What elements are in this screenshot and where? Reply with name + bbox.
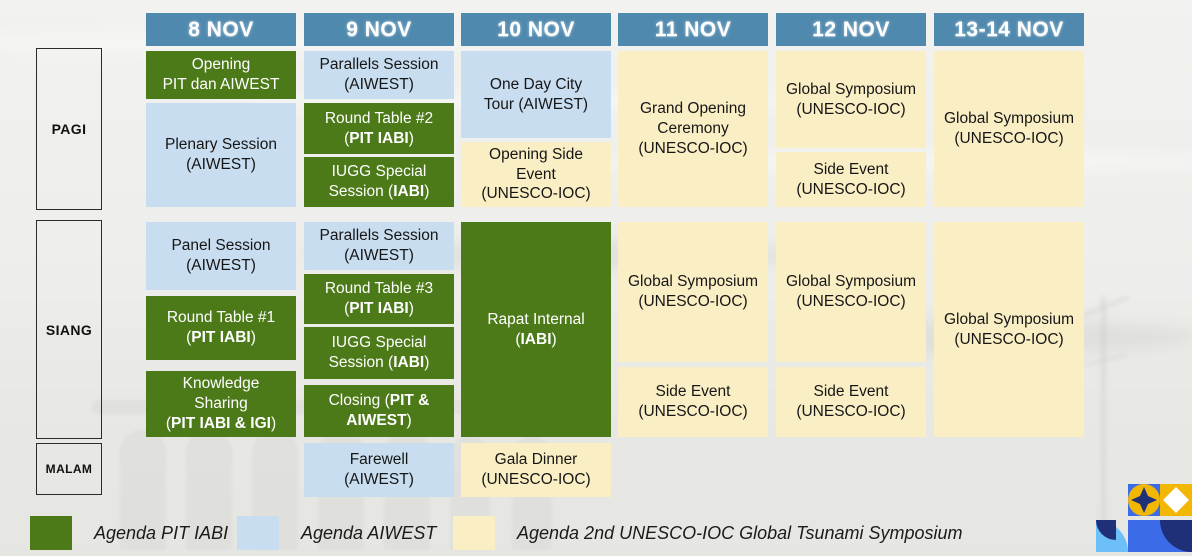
- legend-swatch-green: [30, 516, 72, 550]
- session-cell-text: Side Event (UNESCO-IOC): [624, 382, 762, 422]
- session-cell-text: Knowledge Sharing (PIT IABI & IGI): [152, 374, 290, 433]
- session-cell-global-symposium-12-afternoon[interactable]: Global Symposium (UNESCO-IOC): [776, 222, 926, 362]
- legend-swatch-cream: [453, 516, 495, 550]
- session-cell-rapat-internal[interactable]: Rapat Internal (IABI): [461, 222, 611, 437]
- session-cell-closing[interactable]: Closing (PIT & AIWEST): [304, 385, 454, 437]
- session-cell-text: Gala Dinner (UNESCO-IOC): [467, 450, 605, 490]
- session-cell-text: Opening Side Event (UNESCO-IOC): [467, 145, 605, 204]
- session-cell-text: Round Table #2 (PIT IABI): [310, 109, 448, 149]
- session-cell-side-event-11-afternoon[interactable]: Side Event (UNESCO-IOC): [618, 367, 768, 437]
- session-cell-opening-pit-aiwest[interactable]: Opening PIT dan AIWEST: [146, 51, 296, 99]
- legend-label: Agenda 2nd UNESCO-IOC Global Tsunami Sym…: [517, 523, 963, 544]
- session-cell-iugg-special-session-morning[interactable]: IUGG Special Session (IABI): [304, 157, 454, 207]
- column-header-10-nov: 10 NOV: [461, 13, 611, 46]
- session-cell-text: Grand Opening Ceremony (UNESCO-IOC): [624, 99, 762, 158]
- daypart-label-text: MALAM: [46, 462, 93, 476]
- session-cell-text: Panel Session (AIWEST): [152, 236, 290, 276]
- session-cell-side-event-12-morning[interactable]: Side Event (UNESCO-IOC): [776, 152, 926, 207]
- session-cell-text: Plenary Session (AIWEST): [152, 135, 290, 175]
- column-header-13-14-nov: 13-14 NOV: [934, 13, 1084, 46]
- session-cell-text: Side Event (UNESCO-IOC): [782, 160, 920, 200]
- column-header-8-nov: 8 NOV: [146, 13, 296, 46]
- column-header-label: 11 NOV: [655, 18, 732, 42]
- session-cell-text: Round Table #1 (PIT IABI): [152, 308, 290, 348]
- brand-logo-icon: [1080, 480, 1192, 556]
- daypart-label-text: PAGI: [52, 121, 87, 137]
- column-header-label: 10 NOV: [497, 18, 575, 42]
- session-cell-text: Global Symposium (UNESCO-IOC): [624, 272, 762, 312]
- session-cell-one-day-city-tour[interactable]: One Day City Tour (AIWEST): [461, 51, 611, 138]
- legend-item-aiwest: Agenda AIWEST: [237, 516, 436, 550]
- legend-label: Agenda PIT IABI: [94, 523, 228, 544]
- session-cell-iugg-special-session-afternoon[interactable]: IUGG Special Session (IABI): [304, 327, 454, 379]
- session-cell-text: Round Table #3 (PIT IABI): [310, 279, 448, 319]
- daypart-label-siang: SIANG: [36, 220, 102, 439]
- legend-item-unesco-ioc: Agenda 2nd UNESCO-IOC Global Tsunami Sym…: [453, 516, 963, 550]
- session-cell-text: Side Event (UNESCO-IOC): [782, 382, 920, 422]
- column-header-label: 12 NOV: [812, 18, 890, 42]
- session-cell-plenary-session[interactable]: Plenary Session (AIWEST): [146, 103, 296, 207]
- session-cell-text: One Day City Tour (AIWEST): [467, 75, 605, 115]
- session-cell-text: Parallels Session (AIWEST): [310, 226, 448, 266]
- session-cell-text: IUGG Special Session (IABI): [310, 162, 448, 202]
- column-header-12-nov: 12 NOV: [776, 13, 926, 46]
- column-header-11-nov: 11 NOV: [618, 13, 768, 46]
- legend-swatch-blue: [237, 516, 279, 550]
- session-cell-global-symposium-12-morning[interactable]: Global Symposium (UNESCO-IOC): [776, 51, 926, 148]
- session-cell-text: Global Symposium (UNESCO-IOC): [940, 310, 1078, 350]
- session-cell-grand-opening-ceremony[interactable]: Grand Opening Ceremony (UNESCO-IOC): [618, 51, 768, 207]
- column-header-label: 8 NOV: [188, 18, 254, 42]
- session-cell-round-table-1[interactable]: Round Table #1 (PIT IABI): [146, 296, 296, 360]
- session-cell-knowledge-sharing[interactable]: Knowledge Sharing (PIT IABI & IGI): [146, 371, 296, 437]
- session-cell-text: Farewell (AIWEST): [310, 450, 448, 490]
- session-cell-gala-dinner[interactable]: Gala Dinner (UNESCO-IOC): [461, 443, 611, 497]
- schedule-poster: PAGI SIANG MALAM 8 NOV 9 NOV 10 NOV 11 N…: [0, 0, 1192, 556]
- legend-item-pit-iabi: Agenda PIT IABI: [30, 516, 228, 550]
- session-cell-global-symposium-13-afternoon[interactable]: Global Symposium (UNESCO-IOC): [934, 222, 1084, 437]
- session-cell-text: Global Symposium (UNESCO-IOC): [940, 109, 1078, 149]
- session-cell-text: Opening PIT dan AIWEST: [152, 55, 290, 95]
- daypart-label-pagi: PAGI: [36, 48, 102, 210]
- column-header-9-nov: 9 NOV: [304, 13, 454, 46]
- session-cell-global-symposium-11-afternoon[interactable]: Global Symposium (UNESCO-IOC): [618, 222, 768, 362]
- column-header-label: 9 NOV: [346, 18, 412, 42]
- column-header-label: 13-14 NOV: [954, 18, 1064, 42]
- session-cell-text: IUGG Special Session (IABI): [310, 333, 448, 373]
- legend: Agenda PIT IABI Agenda AIWEST Agenda 2nd…: [0, 512, 1192, 556]
- session-cell-parallels-session-afternoon[interactable]: Parallels Session (AIWEST): [304, 222, 454, 270]
- session-cell-parallels-session-morning[interactable]: Parallels Session (AIWEST): [304, 51, 454, 99]
- session-cell-round-table-3[interactable]: Round Table #3 (PIT IABI): [304, 274, 454, 324]
- daypart-label-text: SIANG: [46, 322, 92, 338]
- daypart-label-malam: MALAM: [36, 443, 102, 495]
- session-cell-text: Global Symposium (UNESCO-IOC): [782, 80, 920, 120]
- session-cell-global-symposium-13-morning[interactable]: Global Symposium (UNESCO-IOC): [934, 51, 1084, 207]
- session-cell-text: Global Symposium (UNESCO-IOC): [782, 272, 920, 312]
- session-cell-panel-session[interactable]: Panel Session (AIWEST): [146, 222, 296, 290]
- session-cell-text: Closing (PIT & AIWEST): [310, 391, 448, 431]
- session-cell-round-table-2[interactable]: Round Table #2 (PIT IABI): [304, 103, 454, 154]
- brand-logo: [1080, 480, 1192, 556]
- legend-label: Agenda AIWEST: [301, 523, 436, 544]
- session-cell-text: Rapat Internal (IABI): [467, 310, 605, 350]
- session-cell-farewell[interactable]: Farewell (AIWEST): [304, 443, 454, 497]
- session-cell-text: Parallels Session (AIWEST): [310, 55, 448, 95]
- session-cell-side-event-12-afternoon[interactable]: Side Event (UNESCO-IOC): [776, 367, 926, 437]
- session-cell-opening-side-event[interactable]: Opening Side Event (UNESCO-IOC): [461, 142, 611, 207]
